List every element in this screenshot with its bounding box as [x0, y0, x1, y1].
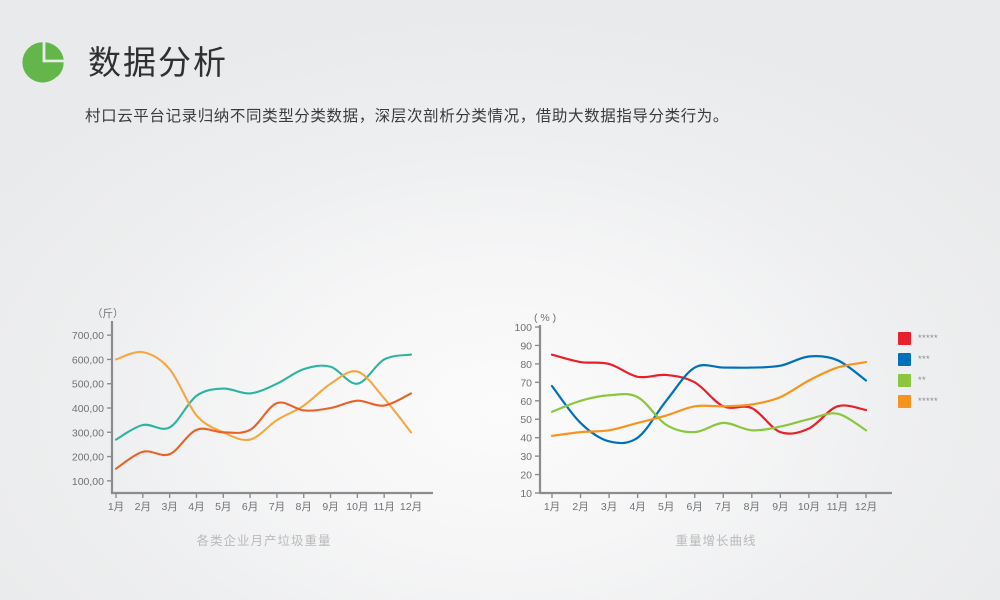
y-axis-tick-label: 600,00 [72, 354, 104, 366]
legend-label: *** [918, 355, 930, 365]
y-axis-tick-label: 300,00 [72, 427, 104, 439]
legend-label: ***** [918, 334, 938, 344]
y-axis-tick-label: 20 [520, 470, 532, 482]
line-series-series-blue [552, 356, 866, 443]
x-axis-tick-label: 9月 [322, 501, 338, 513]
y-axis-tick-label: 10 [520, 488, 532, 500]
y-axis-tick-label: 40 [520, 433, 532, 445]
legend-label: ***** [918, 397, 938, 407]
pie-chart-icon [22, 40, 66, 84]
title-row: 数据分析 [22, 40, 228, 84]
chart-right-svg: ( % )1009080706050403020101月2月3月4月5月6月7月… [498, 305, 898, 525]
x-axis-tick-label: 6月 [687, 501, 703, 513]
y-axis-tick-label: 500,00 [72, 379, 104, 391]
legend-item[interactable]: ** [898, 372, 988, 389]
y-axis-tick-label: 30 [520, 451, 532, 463]
y-axis-unit-label: ( % ) [534, 312, 556, 324]
legend-swatch-series-orange [898, 395, 911, 408]
y-axis-tick-label: 80 [520, 359, 532, 371]
chart-right-container: ( % )1009080706050403020101月2月3月4月5月6月7月… [498, 305, 918, 550]
x-axis-tick-label: 5月 [658, 501, 674, 513]
x-axis-tick-label: 9月 [772, 501, 788, 513]
line-series-teal-series [116, 355, 411, 440]
line-series-series-orange [552, 362, 866, 436]
x-axis-tick-label: 6月 [242, 501, 258, 513]
legend-swatch-series-blue [898, 353, 911, 366]
legend-swatch-series-green [898, 374, 911, 387]
line-series-series-green [552, 394, 866, 432]
legend-item[interactable]: *** [898, 351, 988, 368]
x-axis-tick-label: 5月 [215, 501, 231, 513]
y-axis-tick-label: 70 [520, 377, 532, 389]
x-axis-tick-label: 2月 [572, 501, 588, 513]
chart-right-caption: 重量增长曲线 [506, 530, 926, 549]
x-axis-tick-label: 8月 [744, 501, 760, 513]
y-axis-tick-label: 60 [520, 396, 532, 408]
slide-canvas: 数据分析 村口云平台记录归纳不同类型分类数据，深层次剖析分类情况，借助大数据指导… [0, 0, 1000, 600]
legend-label: ** [918, 376, 926, 386]
y-axis-tick-label: 200,00 [72, 452, 104, 464]
y-axis-tick-label: 100,00 [72, 476, 104, 488]
y-axis-unit-label: （斤） [92, 308, 124, 320]
x-axis-tick-label: 7月 [715, 501, 731, 513]
x-axis-tick-label: 1月 [544, 501, 560, 513]
x-axis-tick-label: 10月 [798, 501, 820, 513]
y-axis-tick-label: 90 [520, 340, 532, 352]
x-axis-tick-label: 3月 [601, 501, 617, 513]
x-axis-tick-label: 4月 [188, 501, 204, 513]
chart-legend: *************** [898, 330, 988, 414]
x-axis-tick-label: 10月 [346, 501, 368, 513]
chart-left-container: （斤）700,00600,00500,00400,00300,00200,001… [50, 305, 450, 550]
x-axis-tick-label: 12月 [855, 501, 877, 513]
y-axis-tick-label: 100 [514, 322, 532, 334]
page-title: 数据分析 [88, 46, 228, 79]
x-axis-tick-label: 8月 [296, 501, 312, 513]
y-axis-tick-label: 700,00 [72, 330, 104, 342]
chart-left-svg: （斤）700,00600,00500,00400,00300,00200,001… [50, 305, 450, 525]
x-axis-tick-label: 11月 [827, 501, 848, 513]
line-series-orange-light-series [116, 352, 411, 440]
chart-left-caption: 各类企业月产垃圾重量 [64, 530, 464, 549]
y-axis-tick-label: 50 [520, 414, 532, 426]
x-axis-tick-label: 4月 [629, 501, 645, 513]
x-axis-tick-label: 7月 [269, 501, 285, 513]
x-axis-tick-label: 12月 [400, 501, 422, 513]
legend-item[interactable]: ***** [898, 330, 988, 347]
legend-swatch-series-red [898, 332, 911, 345]
x-axis-tick-label: 1月 [108, 501, 124, 513]
y-axis-tick-label: 400,00 [72, 403, 104, 415]
x-axis-tick-label: 11月 [373, 501, 394, 513]
x-axis-tick-label: 3月 [161, 501, 177, 513]
x-axis-tick-label: 2月 [135, 501, 151, 513]
page-subtitle: 村口云平台记录归纳不同类型分类数据，深层次剖析分类情况，借助大数据指导分类行为。 [85, 104, 729, 126]
legend-item[interactable]: ***** [898, 393, 988, 410]
